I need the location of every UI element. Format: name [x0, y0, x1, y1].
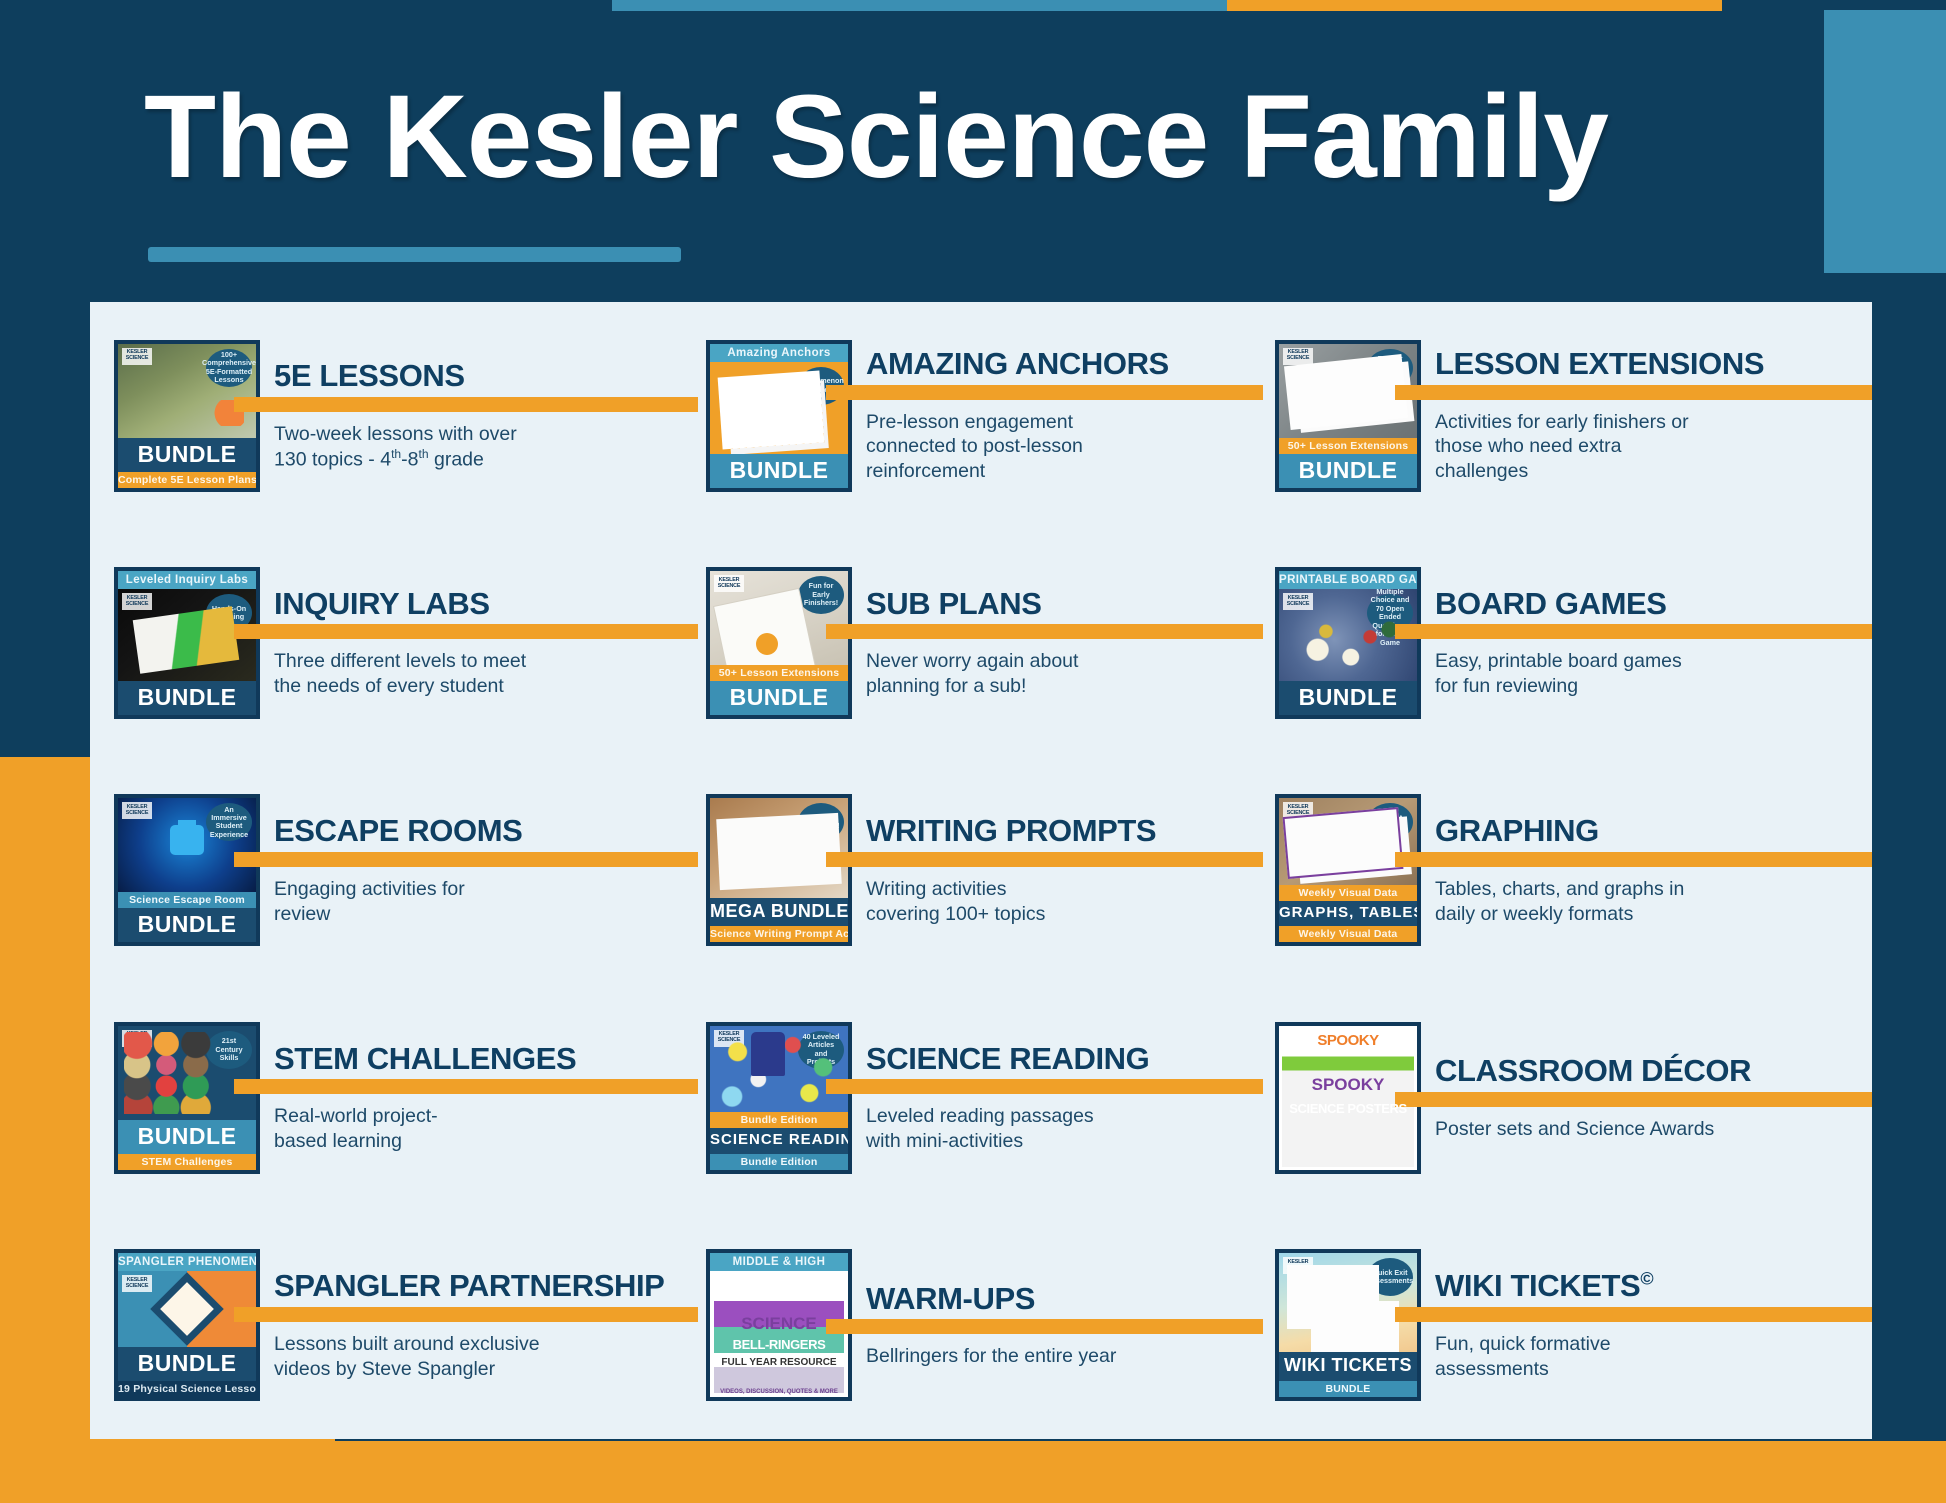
thumbnail-badge: 21st Century Skills — [206, 1031, 252, 1069]
thumbnail-bundle-label: BUNDLE — [710, 681, 848, 715]
product-text-block: ESCAPE ROOMSEngaging activities forrevie… — [274, 814, 698, 926]
product-description-line: Easy, printable board games — [1435, 649, 1745, 674]
product-title-text: 5E LESSONS — [274, 358, 465, 393]
thumbnail-badge: 40 Leveled Articles and Projects — [798, 1031, 844, 1069]
product-description: Pre-lesson engagementconnected to post-l… — [866, 410, 1166, 485]
product-text-block: LESSON EXTENSIONSActivities for early fi… — [1435, 347, 1872, 484]
thumbnail-badge: 100+ Comprehensive 5E-Formatted Lessons — [206, 349, 252, 387]
thumbnail-sub-tag: 50+ Lesson Extensions — [710, 665, 848, 681]
product-description-line: challenges — [1435, 459, 1745, 484]
product-title-text: BOARD GAMES — [1435, 586, 1667, 621]
product-description: Three different levels to meetthe needs … — [274, 649, 594, 699]
product-title-row: GRAPHING — [1435, 814, 1872, 847]
product-item-classroom-decor[interactable]: SPOOKYSCIENCE POSTERSCLASSROOM DÉCORPost… — [1263, 984, 1872, 1211]
product-description: Leveled reading passageswith mini-activi… — [866, 1104, 1166, 1154]
product-title: WARM-UPS — [866, 1281, 1035, 1316]
product-description-line: Poster sets and Science Awards — [1435, 1117, 1745, 1142]
top-teal-accent-bar — [612, 0, 1227, 11]
thumbnail-badge: Quick Exit Assessments — [1367, 1258, 1413, 1296]
thumbnail-badge: Integrate ELA Skills! — [798, 803, 844, 841]
kesler-science-logo-icon: KESLER SCIENCE — [1283, 1257, 1313, 1274]
product-title: ESCAPE ROOMS — [274, 813, 522, 848]
thumbnail-badge: Fun for Early Finishers! — [1367, 349, 1413, 387]
ordinal-suffix-2: th — [419, 447, 429, 461]
products-grid: KESLER SCIENCE100+ Comprehensive 5E-Form… — [90, 302, 1872, 1439]
product-description-line: assessments — [1435, 1357, 1745, 1382]
product-title: AMAZING ANCHORS — [866, 346, 1169, 381]
product-description-line: Tables, charts, and graphs in — [1435, 877, 1745, 902]
product-title-text: INQUIRY LABS — [274, 586, 490, 621]
thumbnail-artwork: Integrate ELA Skills! — [710, 798, 848, 897]
thumbnail-sub-tag: Bundle Edition — [710, 1112, 848, 1128]
orange-underline-accent — [234, 852, 698, 867]
product-title-text: WIKI TICKETS — [1435, 1268, 1640, 1303]
thumbnail-sub-tag-bottom: 19 Physical Science Lessons — [118, 1381, 256, 1397]
product-thumbnail-warm-ups: MIDDLE & HIGHSCIENCEBELL-RINGERSFULL YEA… — [706, 1249, 852, 1401]
product-description: Fun, quick formativeassessments — [1435, 1332, 1745, 1382]
product-description: Easy, printable board gamesfor fun revie… — [1435, 649, 1745, 699]
product-title-text: WRITING PROMPTS — [866, 813, 1156, 848]
product-description-line: videos by Steve Spangler — [274, 1357, 594, 1382]
product-title-text: STEM CHALLENGES — [274, 1041, 576, 1076]
kesler-science-logo-icon: KESLER SCIENCE — [1283, 593, 1313, 610]
product-description-line: Bellringers for the entire year — [866, 1344, 1166, 1369]
thumbnail-headline-2: BELL-RINGERS — [710, 1337, 848, 1352]
product-description-line: for fun reviewing — [1435, 674, 1745, 699]
product-item-inquiry-labs[interactable]: Leveled Inquiry LabsKESLER SCIENCEHands-… — [90, 529, 698, 756]
product-description: Lessons built around exclusivevideos by … — [274, 1332, 594, 1382]
thumbnail-headline-1: SPOOKY — [1279, 1075, 1417, 1095]
thumbnail-sub-tag: 50+ Lesson Extensions — [1279, 438, 1417, 454]
product-thumbnail-wiki-tickets: KESLER SCIENCEQuick Exit AssessmentsWIKI… — [1275, 1249, 1421, 1401]
product-title-row: ESCAPE ROOMS — [274, 814, 698, 847]
product-thumbnail-lesson-extensions: KESLER SCIENCEFun for Early Finishers!50… — [1275, 340, 1421, 492]
kesler-science-logo-icon: KESLER SCIENCE — [714, 1030, 744, 1047]
product-title: SUB PLANS — [866, 586, 1042, 621]
products-card: KESLER SCIENCE100+ Comprehensive 5E-Form… — [90, 302, 1872, 1439]
thumbnail-badge: Student-Centered — [1367, 803, 1413, 841]
product-thumbnail-stem-challenges: KESLER SCIENCE21st Century SkillsBUNDLES… — [114, 1022, 260, 1174]
product-description: Real-world project-based learning — [274, 1104, 594, 1154]
thumbnail-artwork: KESLER SCIENCEQuick Exit Assessments — [1279, 1253, 1417, 1352]
product-title-text: AMAZING ANCHORS — [866, 346, 1169, 381]
product-description-line: Two-week lessons with over — [274, 422, 594, 447]
product-thumbnail-board-games: PRINTABLE BOARD GAMEKESLER SCIENCEInclud… — [1275, 567, 1421, 719]
product-description-line: 130 topics - 4th-8th grade — [274, 447, 594, 472]
thumbnail-headline-3: FULL YEAR RESOURCE — [710, 1357, 848, 1368]
product-description: Never worry again aboutplanning for a su… — [866, 649, 1166, 699]
product-title: GRAPHING — [1435, 813, 1599, 848]
thumbnail-top-tag: PRINTABLE BOARD GAME — [1279, 571, 1417, 589]
product-title: 5E LESSONS — [274, 358, 465, 393]
product-title: WRITING PROMPTS — [866, 813, 1156, 848]
kesler-science-logo-icon: KESLER SCIENCE — [714, 575, 744, 592]
kesler-science-logo-icon: KESLER SCIENCE — [122, 1030, 152, 1047]
thumbnail-sub-tag-bottom: STEM Challenges — [118, 1154, 256, 1170]
thumbnail-artwork: KESLER SCIENCE21st Century Skills — [118, 1026, 256, 1120]
poster-canvas: The Kesler Science Family KESLER SCIENCE… — [0, 0, 1946, 1503]
product-title: WIKI TICKETS© — [1435, 1268, 1653, 1303]
orange-underline-accent — [234, 1307, 698, 1322]
kesler-science-logo-icon: KESLER SCIENCE — [1283, 348, 1313, 365]
product-description-line: Pre-lesson engagement — [866, 410, 1166, 435]
thumbnail-artwork: KESLER SCIENCEFun for Early Finishers! — [710, 571, 848, 665]
copyright-mark: © — [1640, 1269, 1653, 1289]
thumbnail-sub-tag-bottom: BUNDLE — [1279, 1381, 1417, 1397]
product-text-block: SCIENCE READINGLeveled reading passagesw… — [866, 1042, 1263, 1154]
thumbnail-bundle-label: BUNDLE — [118, 438, 256, 472]
product-title-text: LESSON EXTENSIONS — [1435, 346, 1764, 381]
thumbnail-sub-tag: Weekly Visual Data — [1279, 885, 1417, 901]
poster-header: The Kesler Science Family — [0, 11, 1824, 273]
thumbnail-artwork: KESLER SCIENCE100+ Comprehensive 5E-Form… — [118, 344, 256, 438]
product-title-row: SPANGLER PARTNERSHIP — [274, 1269, 698, 1302]
product-thumbnail-sub-plans: KESLER SCIENCEFun for Early Finishers!50… — [706, 567, 852, 719]
product-item-5e-lessons[interactable]: KESLER SCIENCE100+ Comprehensive 5E-Form… — [90, 302, 698, 529]
ordinal-suffix-1: th — [391, 447, 401, 461]
product-description: Poster sets and Science Awards — [1435, 1117, 1745, 1142]
product-description-line: Fun, quick formative — [1435, 1332, 1745, 1357]
product-description-line: planning for a sub! — [866, 674, 1166, 699]
thumbnail-sub-tag-bottom: Weekly Visual Data — [1279, 926, 1417, 942]
thumbnail-badge: An Immersive Student Experience — [206, 803, 252, 841]
thumbnail-bundle-label: BUNDLE — [1279, 681, 1417, 715]
orange-underline-accent — [1395, 852, 1872, 867]
product-description-line: Lessons built around exclusive — [274, 1332, 594, 1357]
product-title-text: CLASSROOM DÉCOR — [1435, 1053, 1751, 1088]
product-title-row: SCIENCE READING — [866, 1042, 1263, 1075]
product-description: Engaging activities forreview — [274, 877, 594, 927]
product-thumbnail-amazing-anchors: Amazing AnchorsPhenomenon AnchorsBUNDLE — [706, 340, 852, 492]
thumbnail-bundle-label: BUNDLE — [118, 681, 256, 715]
orange-underline-accent — [1395, 385, 1872, 400]
product-title-row: BOARD GAMES — [1435, 587, 1872, 620]
product-title-text: WARM-UPS — [866, 1281, 1035, 1316]
product-title-text: SPANGLER PARTNERSHIP — [274, 1268, 664, 1303]
product-item-warm-ups[interactable]: MIDDLE & HIGHSCIENCEBELL-RINGERSFULL YEA… — [698, 1212, 1263, 1439]
thumbnail-sub-tag-bottom: Science Writing Prompt Activities — [710, 926, 848, 942]
thumbnail-artwork: KESLER SCIENCEAn Immersive Student Exper… — [118, 798, 256, 892]
thumbnail-bundle-label: SCIENCE READING COMPREHENSION — [710, 1128, 848, 1154]
thumbnail-bundle-label: GRAPHS, TABLES, & CHARTS — [1279, 901, 1417, 927]
product-description-line: Writing activities — [866, 877, 1166, 902]
grade-range-mid: -8 — [401, 448, 418, 470]
product-description-line: Activities for early finishers or — [1435, 410, 1745, 435]
product-title: STEM CHALLENGES — [274, 1041, 576, 1076]
thumbnail-sub-tag-bottom: Complete 5E Lesson Plans — [118, 472, 256, 488]
thumbnail-sub-tag: Science Escape Room — [118, 892, 256, 908]
product-text-block: WRITING PROMPTSWriting activitiescoverin… — [866, 814, 1263, 926]
product-thumbnail-inquiry-labs: Leveled Inquiry LabsKESLER SCIENCEHands-… — [114, 567, 260, 719]
thumbnail-top-tag: MIDDLE & HIGH — [710, 1253, 848, 1271]
product-description: Bellringers for the entire year — [866, 1344, 1166, 1369]
page-title: The Kesler Science Family — [144, 69, 1608, 205]
orange-underline-accent — [1395, 1092, 1872, 1107]
right-teal-block — [1824, 10, 1946, 273]
product-text-block: 5E LESSONSTwo-week lessons with over130 … — [274, 359, 698, 472]
kesler-science-logo-icon: KESLER SCIENCE — [122, 348, 152, 365]
product-text-block: INQUIRY LABSThree different levels to me… — [274, 587, 698, 699]
product-thumbnail-spangler-partnership: SPANGLER PHENOMENONKESLER SCIENCEBUNDLE1… — [114, 1249, 260, 1401]
product-description-line: Engaging activities for — [274, 877, 594, 902]
product-title-row: INQUIRY LABS — [274, 587, 698, 620]
product-description-line: Never worry again about — [866, 649, 1166, 674]
product-title: LESSON EXTENSIONS — [1435, 346, 1764, 381]
product-title-text: ESCAPE ROOMS — [274, 813, 522, 848]
product-title: SCIENCE READING — [866, 1041, 1149, 1076]
kesler-science-logo-icon: KESLER SCIENCE — [122, 1275, 152, 1292]
orange-underline-accent — [826, 624, 1263, 639]
thumbnail-bundle-label: BUNDLE — [118, 1120, 256, 1154]
product-item-escape-rooms[interactable]: KESLER SCIENCEAn Immersive Student Exper… — [90, 757, 698, 984]
product-description-line: daily or weekly formats — [1435, 902, 1745, 927]
product-description-line: reinforcement — [866, 459, 1166, 484]
product-title-row: LESSON EXTENSIONS — [1435, 347, 1872, 380]
thumbnail-top-tag: Leveled Inquiry Labs — [118, 571, 256, 589]
product-title: BOARD GAMES — [1435, 586, 1667, 621]
thumbnail-artwork: SCIENCEBELL-RINGERSFULL YEAR RESOURCEVID… — [710, 1271, 848, 1397]
product-item-amazing-anchors[interactable]: Amazing AnchorsPhenomenon AnchorsBUNDLEA… — [698, 302, 1263, 529]
thumbnail-artwork: KESLER SCIENCE40 Leveled Articles and Pr… — [710, 1026, 848, 1112]
product-description: Two-week lessons with over130 topics - 4… — [274, 422, 594, 472]
thumbnail-artwork: Phenomenon Anchors — [710, 362, 848, 454]
product-description-line: the needs of every student — [274, 674, 594, 699]
product-description: Writing activitiescovering 100+ topics — [866, 877, 1166, 927]
product-thumbnail-escape-rooms: KESLER SCIENCEAn Immersive Student Exper… — [114, 794, 260, 946]
orange-underline-accent — [1395, 624, 1872, 639]
thumbnail-bundle-label: BUNDLE — [118, 908, 256, 942]
product-text-block: WARM-UPSBellringers for the entire year — [866, 1282, 1263, 1369]
orange-underline-accent — [826, 385, 1263, 400]
product-title-row: CLASSROOM DÉCOR — [1435, 1054, 1872, 1087]
thumbnail-headline-2: SCIENCE POSTERS — [1279, 1101, 1417, 1116]
thumbnail-sub-tag-bottom: Bundle Edition — [710, 1154, 848, 1170]
thumbnail-footer-text: VIDEOS, DISCUSSION, QUOTES & MORE — [712, 1389, 846, 1395]
thumbnail-bundle-label: BUNDLE — [1279, 454, 1417, 488]
thumbnail-artwork: KESLER SCIENCEStudent-Centered — [1279, 798, 1417, 884]
product-title-row: 5E LESSONS — [274, 359, 698, 392]
product-item-sub-plans[interactable]: KESLER SCIENCEFun for Early Finishers!50… — [698, 529, 1263, 756]
orange-underline-accent — [826, 852, 1263, 867]
product-title-row: WIKI TICKETS© — [1435, 1269, 1872, 1302]
product-text-block: WIKI TICKETS©Fun, quick formativeassessm… — [1435, 1269, 1872, 1381]
product-thumbnail-science-reading: KESLER SCIENCE40 Leveled Articles and Pr… — [706, 1022, 852, 1174]
kesler-science-logo-icon: KESLER SCIENCE — [122, 802, 152, 819]
product-thumbnail-writing-prompts: Integrate ELA Skills!MEGA BUNDLEScience … — [706, 794, 852, 946]
product-title: INQUIRY LABS — [274, 586, 490, 621]
product-text-block: CLASSROOM DÉCORPoster sets and Science A… — [1435, 1054, 1872, 1141]
product-description-line: connected to post-lesson — [866, 434, 1166, 459]
product-title-text: SUB PLANS — [866, 586, 1042, 621]
kesler-science-logo-icon: KESLER SCIENCE — [122, 593, 152, 610]
product-description-line: those who need extra — [1435, 434, 1745, 459]
product-title-row: AMAZING ANCHORS — [866, 347, 1263, 380]
product-title-text: GRAPHING — [1435, 813, 1599, 848]
product-title-row: STEM CHALLENGES — [274, 1042, 698, 1075]
product-description-line: with mini-activities — [866, 1129, 1166, 1154]
thumbnail-headline-1: SCIENCE — [710, 1314, 848, 1334]
product-text-block: BOARD GAMESEasy, printable board gamesfo… — [1435, 587, 1872, 699]
product-item-writing-prompts[interactable]: Integrate ELA Skills!MEGA BUNDLEScience … — [698, 757, 1263, 984]
kesler-science-logo-icon: KESLER SCIENCE — [1283, 802, 1313, 819]
orange-underline-accent — [826, 1079, 1263, 1094]
product-item-stem-challenges[interactable]: KESLER SCIENCE21st Century SkillsBUNDLES… — [90, 984, 698, 1211]
product-text-block: STEM CHALLENGESReal-world project-based … — [274, 1042, 698, 1154]
thumbnail-badge: Fun for Early Finishers! — [798, 576, 844, 614]
product-item-spangler-partnership[interactable]: SPANGLER PHENOMENONKESLER SCIENCEBUNDLE1… — [90, 1212, 698, 1439]
product-text-block: AMAZING ANCHORSPre-lesson engagementconn… — [866, 347, 1263, 484]
thumbnail-bundle-label: BUNDLE — [710, 454, 848, 488]
product-title: CLASSROOM DÉCOR — [1435, 1053, 1751, 1088]
bottom-orange-band — [0, 1441, 1946, 1503]
product-text-block: SUB PLANSNever worry again aboutplanning… — [866, 587, 1263, 699]
product-title-text: SCIENCE READING — [866, 1041, 1149, 1076]
thumbnail-bundle-label: WIKI TICKETS — [1279, 1352, 1417, 1381]
product-description-line: Three different levels to meet — [274, 649, 594, 674]
product-item-board-games[interactable]: PRINTABLE BOARD GAMEKESLER SCIENCEInclud… — [1263, 529, 1872, 756]
product-item-graphing[interactable]: KESLER SCIENCEStudent-CenteredWeekly Vis… — [1263, 757, 1872, 984]
product-title-row: WRITING PROMPTS — [866, 814, 1263, 847]
product-title-row: SUB PLANS — [866, 587, 1263, 620]
product-title: SPANGLER PARTNERSHIP — [274, 1268, 664, 1303]
orange-underline-accent — [1395, 1307, 1872, 1322]
product-description: Tables, charts, and graphs indaily or we… — [1435, 877, 1745, 927]
product-thumbnail-graphing: KESLER SCIENCEStudent-CenteredWeekly Vis… — [1275, 794, 1421, 946]
grade-range-end: grade — [429, 448, 484, 470]
thumbnail-bundle-label: BUNDLE — [118, 1347, 256, 1381]
thumbnail-bundle-label: MEGA BUNDLE — [710, 898, 848, 927]
product-item-wiki-tickets[interactable]: KESLER SCIENCEQuick Exit AssessmentsWIKI… — [1263, 1212, 1872, 1439]
orange-underline-accent — [826, 1319, 1263, 1334]
thumbnail-top-tag: SPANGLER PHENOMENON — [118, 1253, 256, 1271]
product-description-line: review — [274, 902, 594, 927]
orange-underline-accent — [234, 624, 698, 639]
product-title-row: WARM-UPS — [866, 1282, 1263, 1315]
product-description-line: Leveled reading passages — [866, 1104, 1166, 1129]
top-orange-accent-bar — [1227, 0, 1722, 11]
orange-underline-accent — [234, 1079, 698, 1094]
orange-underline-accent — [234, 397, 698, 412]
product-description-line: Real-world project- — [274, 1104, 594, 1129]
title-underline-accent — [148, 247, 681, 262]
product-description-line: based learning — [274, 1129, 594, 1154]
product-item-science-reading[interactable]: KESLER SCIENCE40 Leveled Articles and Pr… — [698, 984, 1263, 1211]
product-text-block: GRAPHINGTables, charts, and graphs indai… — [1435, 814, 1872, 926]
product-thumbnail-5e-lessons: KESLER SCIENCE100+ Comprehensive 5E-Form… — [114, 340, 260, 492]
product-description: Activities for early finishers orthose w… — [1435, 410, 1745, 485]
product-item-lesson-extensions[interactable]: KESLER SCIENCEFun for Early Finishers!50… — [1263, 302, 1872, 529]
product-description-line: covering 100+ topics — [866, 902, 1166, 927]
product-text-block: SPANGLER PARTNERSHIPLessons built around… — [274, 1269, 698, 1381]
thumbnail-top-tag: Amazing Anchors — [710, 344, 848, 362]
grade-range-start: 130 topics - 4 — [274, 448, 391, 470]
